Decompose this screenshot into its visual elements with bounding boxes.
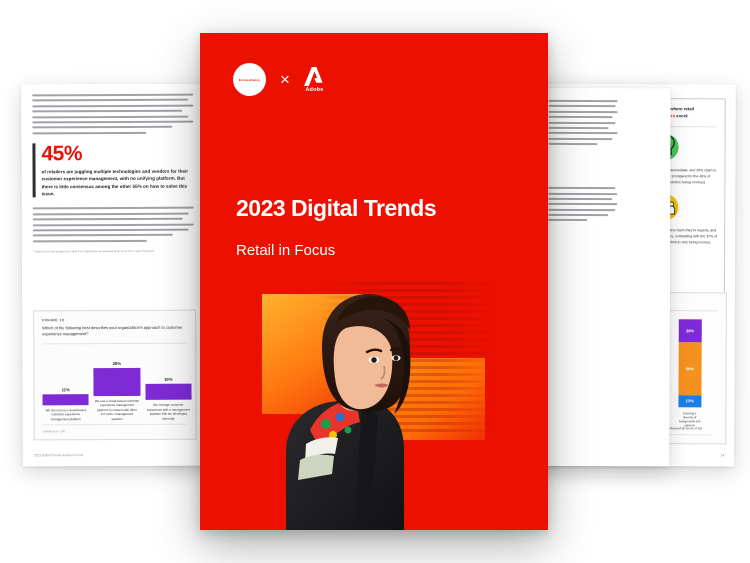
cover-artwork: Woman with bob haircut in embroidered bl… xyxy=(200,276,548,530)
callout-rule xyxy=(32,143,35,198)
bar-category-label: We do not use a cloud-based customer exp… xyxy=(43,408,89,422)
bar-value: 16% xyxy=(164,377,172,382)
bar-group: 11% We do not use a cloud-based customer… xyxy=(42,359,191,422)
paragraph xyxy=(548,100,618,145)
sample-size-note: Sample size = 200 xyxy=(43,430,65,433)
econsultancy-logo: Econsultancy xyxy=(233,63,266,96)
segment-advanced: 26% xyxy=(678,319,702,342)
bar-category-label: We manage customer experience with a man… xyxy=(145,403,191,421)
econsultancy-logo-label: Econsultancy xyxy=(239,78,260,82)
cover-title: 2023 Digital Trends xyxy=(236,195,436,222)
cross-symbol-icon: × xyxy=(280,71,290,88)
adobe-wordmark: Adobe xyxy=(305,87,323,93)
bar-value: 11% xyxy=(62,387,70,392)
paragraph xyxy=(33,207,196,242)
adobe-a-mark-icon xyxy=(304,67,325,86)
bar-category-label: We use a cloud-based customer experience… xyxy=(94,398,140,421)
adobe-logo: Adobe xyxy=(304,67,325,93)
stacked-bar[interactable]: 26% 60% 13% xyxy=(678,319,702,407)
page-number: 14 xyxy=(720,453,724,457)
cover-portrait-photo: Woman with bob haircut in embroidered bl… xyxy=(270,284,420,530)
stat-number: 45% xyxy=(41,142,195,164)
bar-rect xyxy=(94,367,140,395)
page-footer: 2023 Digital Trends Retail in Focus xyxy=(34,453,83,457)
stat-description: of retailers are juggling multiple techn… xyxy=(42,167,196,197)
report-cover[interactable]: Econsultancy × Adobe 2023 Digital Trends… xyxy=(200,33,548,530)
figure-question: Which of the following best describes yo… xyxy=(34,322,195,338)
footnote: * Figures show percentages who rated the… xyxy=(33,249,196,254)
leaders-title-suffix: excel: xyxy=(676,113,688,118)
divider xyxy=(43,424,188,425)
paragraph xyxy=(548,187,618,222)
cover-subtitle: Retail in Focus xyxy=(236,242,335,259)
bar-rect xyxy=(43,394,89,405)
figure-label: FIGURE 10 xyxy=(34,311,195,323)
bar-column[interactable]: 16% We manage customer experience with a… xyxy=(145,377,192,421)
document-page-left[interactable]: It's still a significant challenge for m… xyxy=(21,84,208,467)
segment-novice: 13% xyxy=(678,395,702,407)
segment-intermediate: 60% xyxy=(678,342,702,395)
screenshot-stage: These are areas where retail industry le… xyxy=(0,0,750,563)
legend-label-advanced: Advanced (8-10 out of 10) xyxy=(668,426,701,430)
divider xyxy=(42,343,187,344)
bar-column[interactable]: 28% We use a cloud-based customer experi… xyxy=(94,360,141,421)
bar-column[interactable]: 11% We do not use a cloud-based customer… xyxy=(42,387,88,422)
right-column-paragraph-2: over 2040 is not only about the gender p… xyxy=(548,152,549,153)
figure-10-chart: FIGURE 10 Which of the following best de… xyxy=(33,310,197,441)
bar-value: 28% xyxy=(113,361,121,366)
stat-callout-45: 45% of retailers are juggling multiple t… xyxy=(32,142,195,197)
bar-rect xyxy=(145,384,191,400)
paragraph xyxy=(32,94,195,134)
left-page-content: It's still a significant challenge for m… xyxy=(32,94,196,254)
right-page-text-column: back from when we turn to Figure 6. 22% … xyxy=(548,100,618,229)
cover-logo-lockup: Econsultancy × Adobe xyxy=(233,63,325,96)
